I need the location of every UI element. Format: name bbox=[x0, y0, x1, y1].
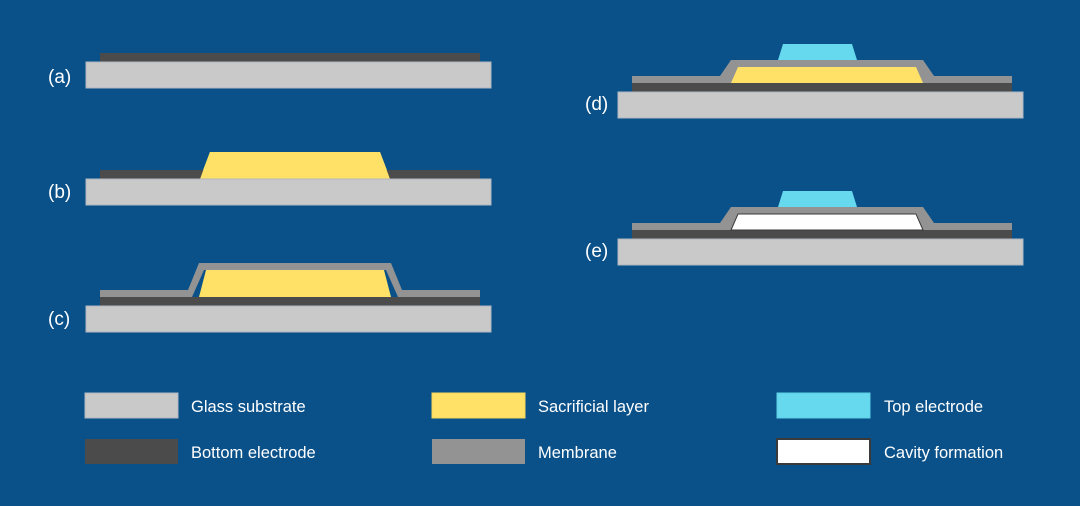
panel-d-label: (d) bbox=[585, 94, 608, 115]
panel-c-sacrificial-layer bbox=[199, 270, 391, 297]
panel-a-glass-substrate bbox=[86, 62, 491, 88]
top-electrode-swatch bbox=[777, 393, 870, 418]
legend-label-membrane: Membrane bbox=[538, 444, 617, 462]
legend-label-cavity-formation: Cavity formation bbox=[884, 444, 1003, 462]
panel-b: (b) bbox=[48, 152, 491, 205]
panel-d-top-electrode bbox=[778, 44, 857, 60]
panel-e: (e) bbox=[585, 191, 1023, 265]
fabrication-process-diagram: (a) (b) (c) bbox=[0, 0, 1080, 506]
panel-c-label: (c) bbox=[48, 309, 70, 330]
legend: Glass substrate Sacrificial layer Top el… bbox=[85, 393, 1003, 464]
process-flow-figure: (a) (b) (c) bbox=[0, 0, 1080, 506]
panel-e-cavity bbox=[731, 214, 923, 230]
panel-e-glass-substrate bbox=[618, 239, 1023, 265]
panel-d: (d) bbox=[585, 44, 1023, 118]
panel-d-sacrificial-layer bbox=[731, 67, 923, 83]
panel-a: (a) bbox=[48, 53, 491, 88]
panel-c: (c) bbox=[48, 263, 491, 332]
legend-label-glass-substrate: Glass substrate bbox=[191, 398, 306, 416]
panel-d-bottom-electrode bbox=[632, 83, 1012, 92]
legend-label-sacrificial-layer: Sacrificial layer bbox=[538, 398, 649, 416]
panel-e-bottom-electrode bbox=[632, 230, 1012, 239]
panel-b-sacrificial-layer-top bbox=[200, 152, 390, 179]
panel-b-label: (b) bbox=[48, 182, 71, 203]
glass-substrate-swatch bbox=[85, 393, 178, 418]
legend-label-bottom-electrode: Bottom electrode bbox=[191, 444, 316, 462]
sacrificial-layer-swatch bbox=[432, 393, 525, 418]
bottom-electrode-swatch bbox=[85, 439, 178, 464]
panel-b-glass-substrate bbox=[86, 179, 491, 205]
panel-e-label: (e) bbox=[585, 241, 608, 262]
panel-a-bottom-electrode bbox=[100, 53, 480, 62]
panel-c-bottom-electrode bbox=[100, 297, 480, 306]
membrane-swatch bbox=[432, 439, 525, 464]
panel-c-glass-substrate bbox=[86, 306, 491, 332]
panel-e-top-electrode bbox=[778, 191, 857, 207]
panel-a-label: (a) bbox=[48, 67, 71, 88]
legend-label-top-electrode: Top electrode bbox=[884, 398, 983, 416]
panel-d-glass-substrate bbox=[618, 92, 1023, 118]
cavity-formation-swatch bbox=[777, 439, 870, 464]
